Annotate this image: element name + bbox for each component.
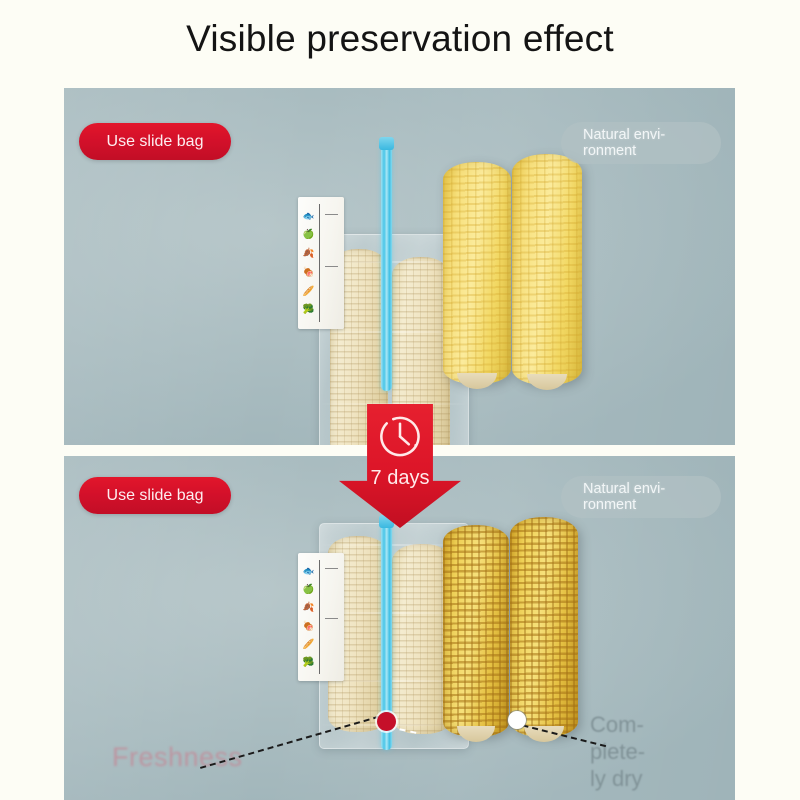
- annotation-line-3: ly dry: [590, 766, 645, 793]
- badge-natural-environment-after: Natural envi- ronment: [561, 476, 721, 518]
- zipper-slider-before[interactable]: [379, 137, 394, 150]
- bread-icon: 🥖: [303, 286, 315, 295]
- bag-label-sticker-after: 🐟 🍏 🍂 🍖 🥖 🥦: [298, 553, 344, 681]
- zipper-strip-before[interactable]: [381, 141, 392, 391]
- leaf-icon: 🍂: [303, 603, 315, 612]
- badge-line-1: Natural envi-: [583, 481, 665, 497]
- bag-label-sticker-before: 🐟 🍏 🍂 🍖 🥖 🥦: [298, 197, 344, 329]
- shrimp-icon: 🥦: [303, 658, 315, 667]
- sticker-icon-group-before: 🐟 🍏 🍂 🍖 🥖 🥦: [298, 197, 319, 329]
- white-dot-marker: [508, 711, 526, 729]
- duration-label: 7 days: [339, 467, 461, 490]
- bread-icon: 🥖: [303, 639, 315, 648]
- meat-icon: 🍖: [303, 268, 315, 277]
- annotation-freshness: Freshness: [112, 742, 243, 773]
- bare-cob-right-before: [512, 154, 582, 385]
- fish-icon: 🐟: [303, 567, 315, 576]
- apple-icon: 🍏: [303, 230, 315, 239]
- badge-line-2: ronment: [583, 143, 636, 159]
- annotation-line-1: Com-: [590, 712, 645, 739]
- red-dot-marker: [377, 712, 396, 731]
- bare-cob-left-before: [443, 162, 511, 384]
- fish-icon: 🐟: [303, 211, 315, 220]
- page-title: Visible preservation effect: [0, 18, 800, 60]
- badge-line-2: ronment: [583, 497, 636, 513]
- clock-icon: [377, 413, 424, 460]
- badge-natural-environment-before: Natural envi- ronment: [561, 122, 721, 164]
- annotation-completely-dry: Com- plete- ly dry: [590, 712, 645, 792]
- bare-cob-left-after: [443, 525, 509, 737]
- seven-days-arrow: 7 days: [339, 404, 461, 528]
- sticker-write-lines-before: [319, 204, 344, 322]
- sticker-write-lines-after: [319, 560, 344, 674]
- shrimp-icon: 🥦: [303, 305, 315, 314]
- badge-use-slide-bag-after: Use slide bag: [79, 477, 231, 514]
- badge-line-1: Natural envi-: [583, 127, 665, 143]
- apple-icon: 🍏: [303, 585, 315, 594]
- sticker-icon-group-after: 🐟 🍏 🍂 🍖 🥖 🥦: [298, 553, 319, 681]
- badge-use-slide-bag-before: Use slide bag: [79, 123, 231, 160]
- bare-cob-right-after: [510, 517, 578, 737]
- meat-icon: 🍖: [303, 621, 315, 630]
- leaf-icon: 🍂: [303, 249, 315, 258]
